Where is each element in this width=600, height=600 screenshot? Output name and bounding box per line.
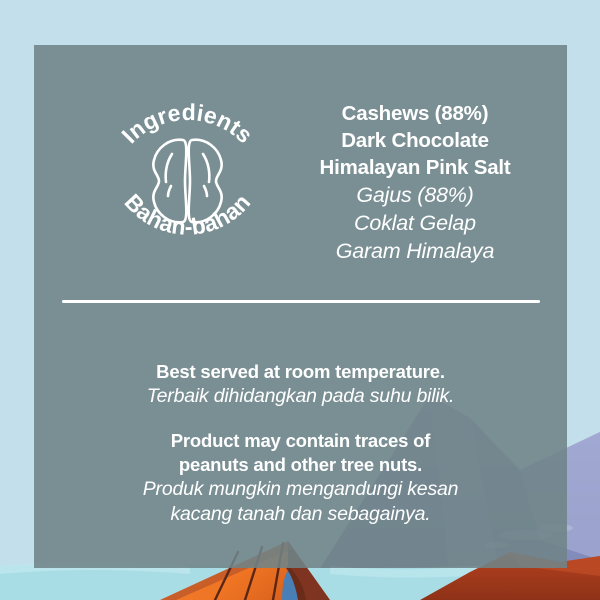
notes-section: Best served at room temperature. Terbaik… [34, 360, 567, 527]
section-divider [62, 300, 540, 303]
note-allergen-my-line-1: Produk mungkin mengandungi kesan [34, 477, 567, 502]
badge-top-arc-text: Ingredients [116, 99, 258, 148]
note-serving: Best served at room temperature. Terbaik… [34, 360, 567, 409]
ingredient-my-0: Gajus (88%) [290, 181, 540, 209]
cashew-right-outline [189, 140, 222, 223]
cashew-left-detail [166, 154, 172, 182]
note-allergen-en-line-1: Product may contain traces of [34, 429, 567, 453]
note-allergen-my-line-2: kacang tanah dan sebagainya. [34, 502, 567, 527]
ingredient-my-1: Coklat Gelap [290, 209, 540, 237]
cashew-right-detail-2 [204, 186, 207, 196]
cashew-left-detail-2 [168, 186, 171, 196]
ingredient-my-2: Garam Himalaya [290, 237, 540, 265]
cashew-left-outline [153, 140, 186, 223]
ingredients-list: Cashews (88%) Dark Chocolate Himalayan P… [290, 100, 540, 265]
ingredient-en-0: Cashews (88%) [290, 100, 540, 127]
cashew-right-detail [203, 154, 209, 182]
note-allergen: Product may contain traces of peanuts an… [34, 429, 567, 527]
ingredients-badge: Ingredients Bahan-bahan [95, 78, 280, 263]
ingredient-en-2: Himalayan Pink Salt [290, 154, 540, 181]
ingredient-en-1: Dark Chocolate [290, 127, 540, 154]
note-serving-en: Best served at room temperature. [34, 360, 567, 384]
note-allergen-en-line-2: peanuts and other tree nuts. [34, 453, 567, 477]
note-serving-my: Terbaik dihidangkan pada suhu bilik. [34, 384, 567, 409]
ingredients-poster: Ingredients Bahan-bahan Cashews (88%) Da… [0, 0, 600, 600]
